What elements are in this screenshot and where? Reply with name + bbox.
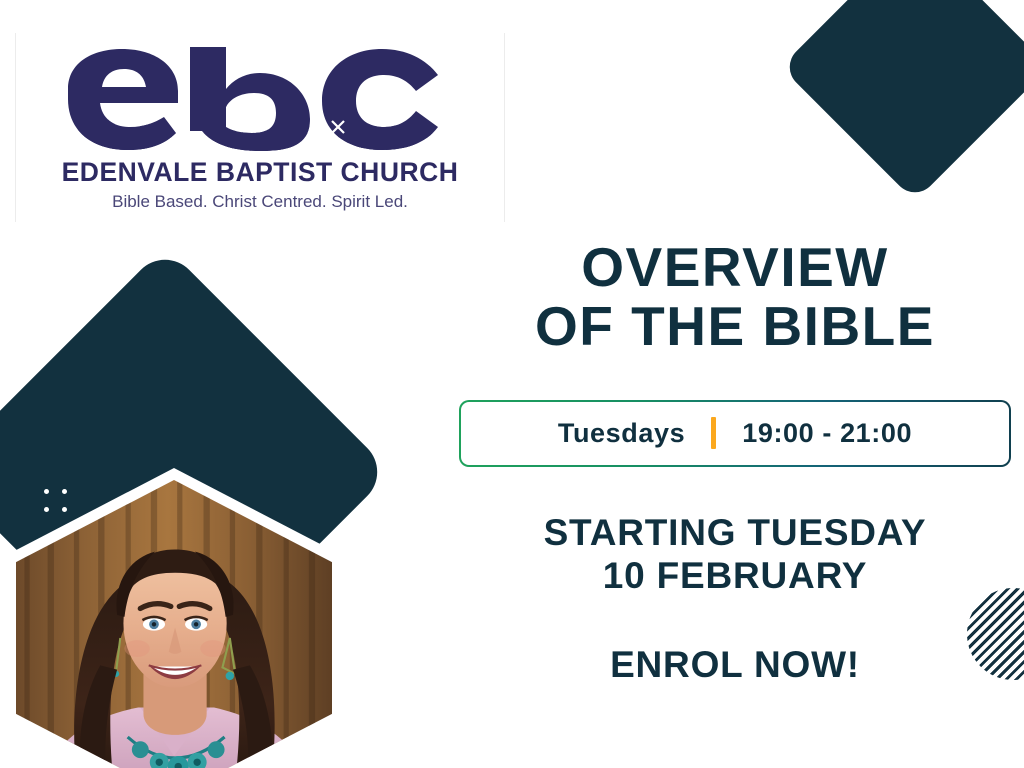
headline-line-2: OF THE BIBLE <box>455 297 1015 356</box>
portrait-photo <box>16 480 332 768</box>
start-date-line-2: 10 FEBRUARY <box>455 554 1015 598</box>
four-dot-grid-icon <box>44 489 74 519</box>
schedule-time: 19:00 - 21:00 <box>742 418 912 449</box>
logo-tagline: Bible Based. Christ Centred. Spirit Led. <box>112 192 408 212</box>
diamond-top-right-decoration <box>781 0 1024 201</box>
schedule-day: Tuesdays <box>558 418 685 449</box>
schedule-divider <box>711 417 716 449</box>
enrol-now-call-to-action[interactable]: ENROL NOW! <box>455 644 1015 686</box>
page-title: OVERVIEW OF THE BIBLE <box>455 238 1015 356</box>
schedule-badge: Tuesdays 19:00 - 21:00 <box>459 400 1011 467</box>
start-date-text: STARTING TUESDAY 10 FEBRUARY <box>455 511 1015 598</box>
headline-line-1: OVERVIEW <box>455 238 1015 297</box>
logo-organization-name: EDENVALE BAPTIST CHURCH <box>62 157 459 188</box>
church-logo: EDENVALE BAPTIST CHURCH Bible Based. Chr… <box>15 33 505 222</box>
ebc-monogram-icon <box>60 47 460 155</box>
poster-content: OVERVIEW OF THE BIBLE Tuesdays 19:00 - 2… <box>455 238 1015 686</box>
poster-canvas: EDENVALE BAPTIST CHURCH Bible Based. Chr… <box>0 0 1024 768</box>
start-date-line-1: STARTING TUESDAY <box>455 511 1015 555</box>
